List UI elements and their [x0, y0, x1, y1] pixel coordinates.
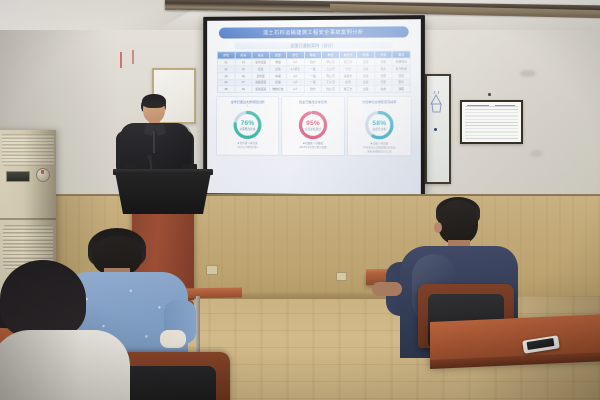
table-cell: 1人 [287, 79, 304, 86]
table-header-cell: 序号 [217, 52, 234, 59]
donut-card: 全年已通过大修项目比例+76%全面整改完成■ 已完成 □ 未完成（对应公司整改台… [216, 96, 279, 156]
notice-text-lines [465, 106, 518, 139]
framed-notice [460, 100, 523, 144]
speaker-hair [142, 94, 166, 108]
table-cell: 05 [217, 86, 234, 93]
donut-ring: 76%全面整改完成 [233, 110, 263, 140]
table-row: 0509某新区段物体打击2人较大戊公司施工方立案在办通报 [217, 86, 410, 93]
wall-nail [488, 93, 491, 96]
audience-navy-head [438, 200, 478, 244]
table-cell: 丁公司 [322, 79, 340, 86]
donut-center-label: 76%全面整改完成 [233, 110, 263, 140]
audience-navy-forearm [372, 282, 402, 296]
donut-center-label: 95%全员复核通过 [298, 110, 328, 140]
donut-percent-value: 58% [372, 120, 386, 127]
table-header-cell: 地点 [252, 52, 269, 59]
slide-subtitle-bar: 全国已通报案例（部分） [235, 42, 392, 50]
donut-sub-label: 全面整改完成 [240, 126, 256, 130]
whiteboard-magnet [434, 128, 437, 131]
audience-blue-hand [160, 330, 186, 348]
donut-footnote: （对应公司整改台账） [218, 145, 277, 149]
donut-plus-icon: + [218, 104, 277, 109]
donut-card: 隐患已整改清零比例+95%全员复核通过■ 已整改 □ 待整改（2018年全年累计… [281, 96, 345, 156]
conference-room-photo: 混土石料运输建筑工程安全事故案例分析 全国已通报案例（部分） 序号时间地点类型伤… [0, 0, 600, 400]
donut-ring: 95%全员复核通过 [298, 110, 328, 140]
table-cell: 丙公司 [322, 72, 340, 79]
donut-caption: 分包单位资质核查完成率 [349, 99, 410, 104]
table-header-cell: 等级 [304, 51, 322, 58]
donut-caption: 全年已通过大修项目比例 [218, 99, 277, 104]
audience-white-shading [0, 330, 130, 400]
slide-subtitle-text: 全国已通报案例（部分） [290, 42, 336, 48]
wall-wire-marker [120, 52, 122, 68]
table-cell: 2人 [287, 86, 304, 93]
donut-ring: 58%资质齐全率 [364, 110, 394, 140]
slide-title-banner: 混土石料运输建筑工程安全事故案例分析 [219, 26, 409, 38]
table-header-cell: 伤亡 [287, 52, 304, 59]
table-cell: 09 [235, 86, 252, 93]
table-cell: 立案 [357, 86, 375, 93]
audience-navy-ear [434, 222, 442, 233]
table-header-cell: 处理 [357, 51, 375, 58]
donut-caption: 隐患已整改清零比例 [283, 99, 343, 104]
donut-center-label: 58%资质齐全率 [364, 110, 394, 140]
donut-sub-label: 全员复核通过 [305, 127, 321, 131]
wall-outlet [206, 265, 218, 275]
slide-data-table: 序号时间地点类型伤亡等级单位责任方处理状态备注 0103某市某区坍塌3人较大甲公… [217, 51, 411, 94]
projection-screen-frame: 混土石料运输建筑工程安全事故案例分析 全国已通报案例（部分） 序号时间地点类型伤… [203, 15, 425, 200]
donut-percent-value: 76% [241, 120, 255, 127]
audience-white-head [0, 260, 86, 338]
whiteboard-drawing-icon [429, 90, 444, 116]
wall-wire-marker-2 [132, 50, 134, 64]
projection-screen: 混土石料运输建筑工程安全事故案例分析 全国已通报案例（部分） 序号时间地点类型伤… [207, 19, 421, 195]
table-cell: 一般 [304, 79, 322, 86]
table-cell: 通报 [392, 86, 410, 93]
donut-card: 分包单位资质核查完成率+58%资质齐全率■ 合格 □ 不合格（不含本次公示期新增… [347, 96, 412, 157]
wall-smudge [520, 70, 536, 77]
podium-lectern [115, 172, 211, 214]
donut-plus-icon: + [283, 104, 343, 109]
donut-chart-row: 全年已通过大修项目比例+76%全面整改完成■ 已完成 □ 未完成（对应公司整改台… [216, 96, 412, 157]
table-cell: 物体打击 [269, 86, 286, 93]
table-cell: 较大 [304, 86, 322, 93]
table-cell: 戊公司 [322, 86, 340, 93]
table-header-cell: 责任方 [339, 51, 357, 58]
wall-outlet-2 [336, 272, 347, 281]
presentation-slide: 混土石料运输建筑工程安全事故案例分析 全国已通报案例（部分） 序号时间地点类型伤… [207, 19, 421, 195]
table-cell: 在办 [375, 86, 393, 93]
donut-percent-value: 95% [306, 120, 320, 127]
slide-title-text: 混土石料运输建筑工程安全事故案例分析 [263, 29, 363, 37]
table-header-cell: 备注 [392, 51, 410, 58]
donut-footnote-extra: 须补充材料后方可上岗 [349, 149, 410, 153]
table-header-cell: 单位 [322, 51, 340, 58]
table-cell: 某新区段 [252, 86, 269, 93]
table-header-cell: 类型 [269, 52, 286, 59]
donut-footnote: （2018年全年累计统计数据） [283, 145, 343, 149]
table-header-cell: 时间 [235, 52, 252, 59]
donut-plus-icon: + [349, 104, 410, 109]
table-cell: 施工方 [339, 86, 357, 93]
table-cell: 已结 [375, 79, 393, 86]
table-cell: 立案 [357, 79, 375, 86]
microphone-icon [147, 155, 152, 159]
wall-smudge-lower [530, 150, 543, 157]
table-cell: 警示 [392, 79, 410, 86]
table-header-cell: 状态 [375, 51, 393, 58]
donut-sub-label: 资质齐全率 [373, 127, 387, 131]
